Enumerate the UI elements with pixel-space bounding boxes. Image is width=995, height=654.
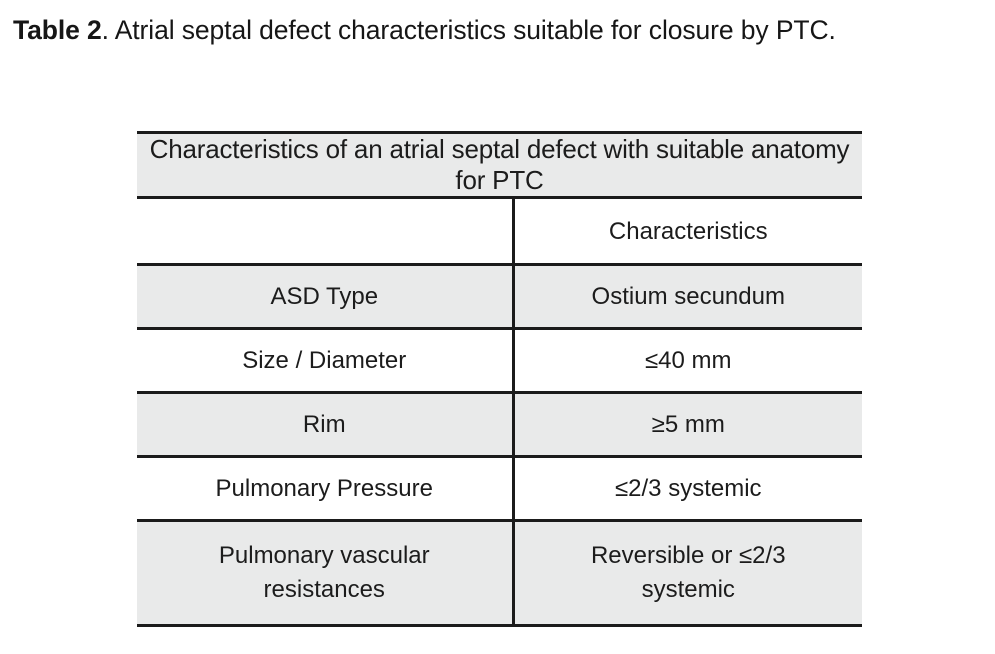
row-value-pulmonary-vascular-resistances: Reversible or ≤2/3 systemic	[513, 521, 862, 626]
row-label-line-2: resistances	[147, 573, 502, 607]
row-value-line-2: systemic	[525, 573, 853, 607]
row-value-line-1: Reversible or ≤2/3	[525, 539, 853, 573]
row-label-pulmonary-pressure: Pulmonary Pressure	[137, 457, 513, 521]
asd-characteristics-table: Characteristics of an atrial septal defe…	[137, 131, 862, 627]
table-row: ASD Type Ostium secundum	[137, 265, 862, 329]
row-label-size-diameter: Size / Diameter	[137, 329, 513, 393]
table-row: Rim ≥5 mm	[137, 393, 862, 457]
row-value-pulmonary-pressure: ≤2/3 systemic	[513, 457, 862, 521]
row-label-pulmonary-vascular-resistances: Pulmonary vascular resistances	[137, 521, 513, 626]
row-label-rim: Rim	[137, 393, 513, 457]
table-title-row: Characteristics of an atrial septal defe…	[137, 133, 862, 198]
row-value-asd-type: Ostium secundum	[513, 265, 862, 329]
table-row: Pulmonary Pressure ≤2/3 systemic	[137, 457, 862, 521]
row-label-asd-type: ASD Type	[137, 265, 513, 329]
table-caption: Table 2. Atrial septal defect characteri…	[13, 14, 985, 47]
table-title-cell: Characteristics of an atrial septal defe…	[137, 133, 862, 198]
table-caption-label: Table 2	[13, 15, 102, 45]
row-label-line-1: Pulmonary vascular	[147, 539, 502, 573]
table-caption-text: . Atrial septal defect characteristics s…	[102, 15, 836, 45]
table-row: Size / Diameter ≤40 mm	[137, 329, 862, 393]
column-header-characteristics: Characteristics	[513, 198, 862, 265]
table-container: Characteristics of an atrial septal defe…	[137, 131, 862, 627]
row-value-rim: ≥5 mm	[513, 393, 862, 457]
row-value-size-diameter: ≤40 mm	[513, 329, 862, 393]
table-column-header-row: Characteristics	[137, 198, 862, 265]
table-row: Pulmonary vascular resistances Reversibl…	[137, 521, 862, 626]
column-header-label-empty	[137, 198, 513, 265]
